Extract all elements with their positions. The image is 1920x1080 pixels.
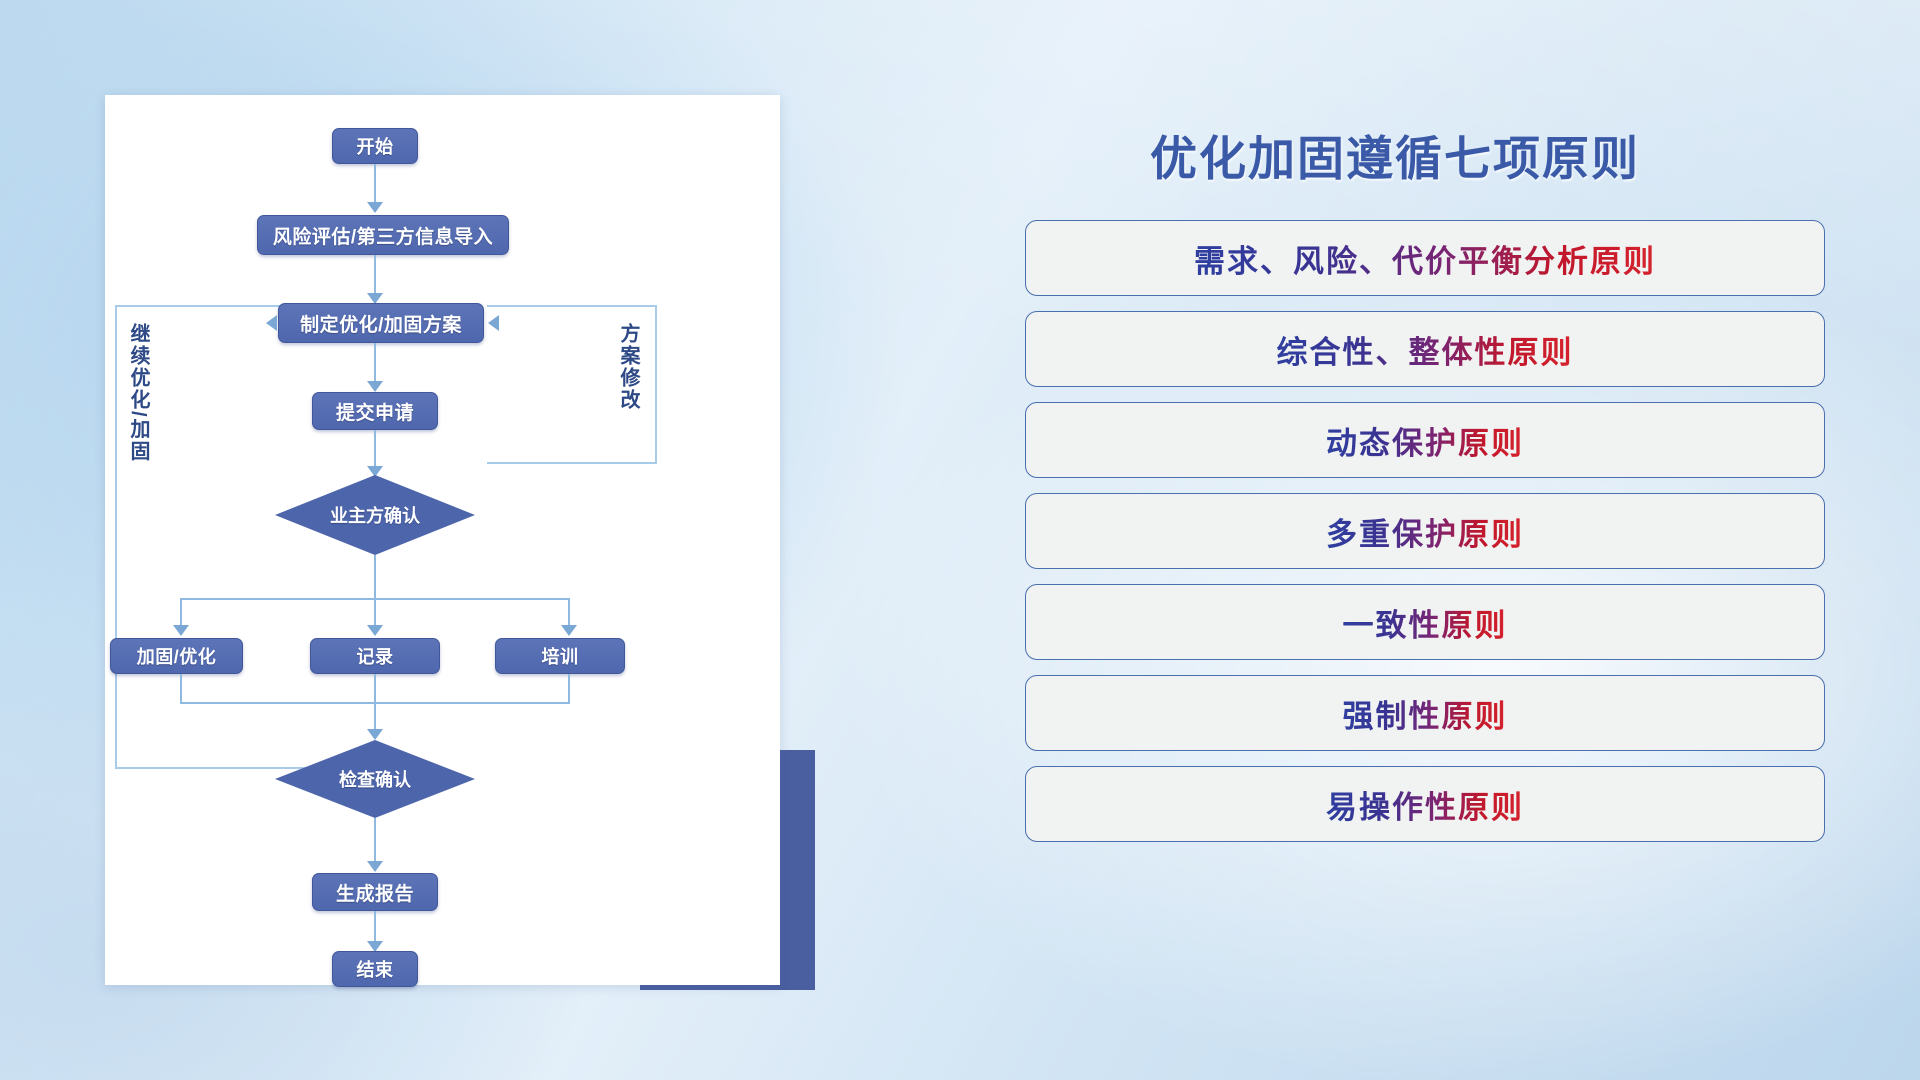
principle-label: 一致性原则 xyxy=(1343,600,1508,645)
node-risk-assessment[interactable]: 风险评估/第三方信息导入 xyxy=(257,215,509,255)
edge-risk-plan xyxy=(374,255,376,298)
node-owner-confirm-label: 业主方确认 xyxy=(330,502,420,528)
edge-start-risk xyxy=(374,164,376,207)
arrow-to-record xyxy=(367,625,383,636)
node-generate-report[interactable]: 生成报告 xyxy=(312,873,438,911)
arrow-plan-submit xyxy=(367,381,383,392)
merge-left-riser xyxy=(180,674,182,704)
principle-card-4[interactable]: 多重保护原则 xyxy=(1025,493,1825,569)
principle-card-2[interactable]: 综合性、整体性原则 xyxy=(1025,311,1825,387)
arrow-to-train xyxy=(561,625,577,636)
node-record[interactable]: 记录 xyxy=(310,638,440,674)
arrow-merge-check xyxy=(367,729,383,740)
principle-card-5[interactable]: 一致性原则 xyxy=(1025,584,1825,660)
node-submit-application[interactable]: 提交申请 xyxy=(312,392,438,430)
edge-label-right: 方案修改 xyxy=(617,323,638,411)
node-check-confirm[interactable]: 检查确认 xyxy=(275,740,475,818)
edge-check-report xyxy=(374,818,376,866)
principle-label: 易操作性原则 xyxy=(1326,782,1524,827)
merge-right-riser xyxy=(568,674,570,704)
edge-label-left: 继续优化/加固 xyxy=(127,323,148,463)
node-start[interactable]: 开始 xyxy=(332,128,418,164)
node-reinforce-optimize[interactable]: 加固/优化 xyxy=(110,638,243,674)
page-title: 优化加固遵循七项原则 xyxy=(1150,120,1640,189)
principle-label: 需求、风险、代价平衡分析原则 xyxy=(1194,236,1656,281)
node-check-confirm-label: 检查确认 xyxy=(339,766,411,792)
arrow-right-loop-into-plan xyxy=(488,315,499,331)
flowchart: 继续优化/加固 方案修改 开始 风险评估/第三方信息导入 制定优化/加固方案 提… xyxy=(105,95,780,985)
principles-section: 优化加固遵循七项原则 需求、风险、代价平衡分析原则 综合性、整体性原则 动态保护… xyxy=(1010,95,1840,1005)
arrow-start-risk xyxy=(367,202,383,213)
principle-card-1[interactable]: 需求、风险、代价平衡分析原则 xyxy=(1025,220,1825,296)
node-end[interactable]: 结束 xyxy=(332,951,418,987)
principle-label: 动态保护原则 xyxy=(1326,418,1524,463)
flowchart-panel: 继续优化/加固 方案修改 开始 风险评估/第三方信息导入 制定优化/加固方案 提… xyxy=(105,95,780,985)
merge-to-check xyxy=(374,674,376,734)
edge-ownerconfirm-down xyxy=(374,555,376,600)
principle-label: 多重保护原则 xyxy=(1326,509,1524,554)
node-make-plan[interactable]: 制定优化/加固方案 xyxy=(278,303,484,343)
arrow-check-report xyxy=(367,861,383,872)
principle-card-7[interactable]: 易操作性原则 xyxy=(1025,766,1825,842)
edge-plan-submit xyxy=(374,343,376,386)
arrow-left-loop-into-plan xyxy=(266,315,277,331)
principles-list: 需求、风险、代价平衡分析原则 综合性、整体性原则 动态保护原则 多重保护原则 一… xyxy=(1025,220,1825,857)
arrow-to-reinforce xyxy=(173,625,189,636)
principle-label: 强制性原则 xyxy=(1343,691,1508,736)
node-owner-confirm[interactable]: 业主方确认 xyxy=(275,475,475,555)
principle-card-6[interactable]: 强制性原则 xyxy=(1025,675,1825,751)
node-training[interactable]: 培训 xyxy=(495,638,625,674)
principle-label: 综合性、整体性原则 xyxy=(1277,327,1574,372)
principle-card-3[interactable]: 动态保护原则 xyxy=(1025,402,1825,478)
